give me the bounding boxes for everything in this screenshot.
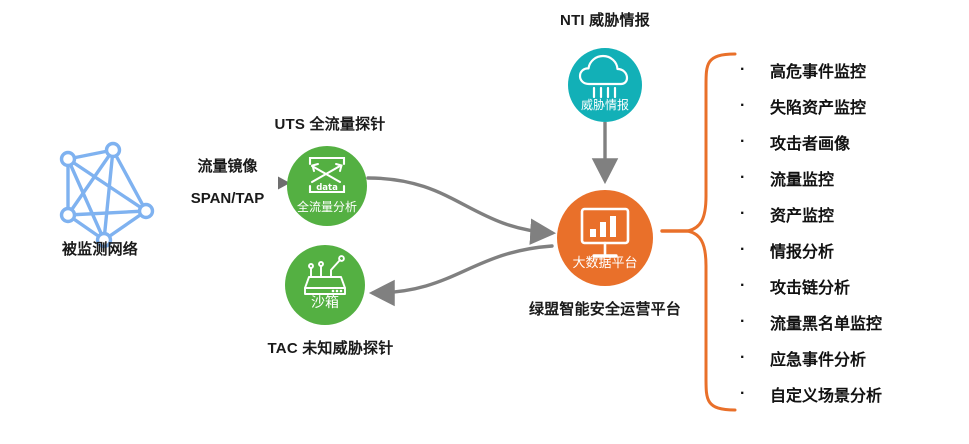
tac-caption: TAC 未知威胁探针 [248,337,413,358]
tac-node-circle[interactable] [285,245,365,325]
platform-node-circle[interactable] [557,190,653,286]
uts-caption: UTS 全流量探针 [250,113,410,134]
list-item[interactable]: · 高危事件监控 [740,52,969,88]
network-caption: 被监测网络 [0,238,200,259]
list-item[interactable]: · 情报分析 [740,232,969,268]
data-icon-text: data [316,183,338,193]
tac-inner-label: 沙箱 [285,292,365,312]
list-item[interactable]: · 流量监控 [740,160,969,196]
list-bullet: · [740,133,770,151]
list-item[interactable]: · 流量黑名单监控 [740,304,969,340]
list-item[interactable]: · 资产监控 [740,196,969,232]
list-item[interactable]: · 失陷资产监控 [740,88,969,124]
mirror-label-bottom: SPAN/TAP [165,190,290,207]
list-bullet: · [740,349,770,367]
nti-inner-label: 威胁情报 [565,96,645,113]
list-item-label: 资产监控 [770,202,834,226]
list-item-label: 应急事件分析 [770,346,866,370]
list-item-label: 流量监控 [770,166,834,190]
list-item[interactable]: · 自定义场景分析 [740,376,969,412]
uts-to-platform-arrow [368,178,552,233]
feature-list: · 高危事件监控 · 失陷资产监控 · 攻击者画像 · 流量监控 · 资产监控 … [740,52,969,412]
platform-to-tac-arrow [373,246,552,293]
uts-inner-label: 全流量分析 [287,198,367,215]
list-bullet: · [740,205,770,223]
list-item[interactable]: · 应急事件分析 [740,340,969,376]
list-bullet: · [740,97,770,115]
list-item-label: 高危事件监控 [770,58,866,82]
list-bullet: · [740,313,770,331]
network-graph-icon [62,144,153,247]
list-bullet: · [740,61,770,79]
feature-brace [662,54,735,410]
mirror-arrow [162,177,290,190]
diagram-canvas: data [0,0,969,444]
platform-inner-label: 大数据平台 [555,252,655,271]
list-item-label: 攻击者画像 [770,130,850,154]
list-item[interactable]: · 攻击者画像 [740,124,969,160]
list-item-label: 情报分析 [770,238,834,262]
platform-caption: 绿盟智能安全运营平台 [500,298,710,319]
list-item[interactable]: · 攻击链分析 [740,268,969,304]
list-item-label: 攻击链分析 [770,274,850,298]
list-bullet: · [740,241,770,259]
mirror-label-top: 流量镜像 [165,155,290,176]
list-bullet: · [740,169,770,187]
list-item-label: 流量黑名单监控 [770,310,882,334]
nti-caption: NTI 威胁情报 [520,9,690,30]
list-bullet: · [740,385,770,403]
list-bullet: · [740,277,770,295]
list-item-label: 自定义场景分析 [770,382,882,406]
list-item-label: 失陷资产监控 [770,94,866,118]
